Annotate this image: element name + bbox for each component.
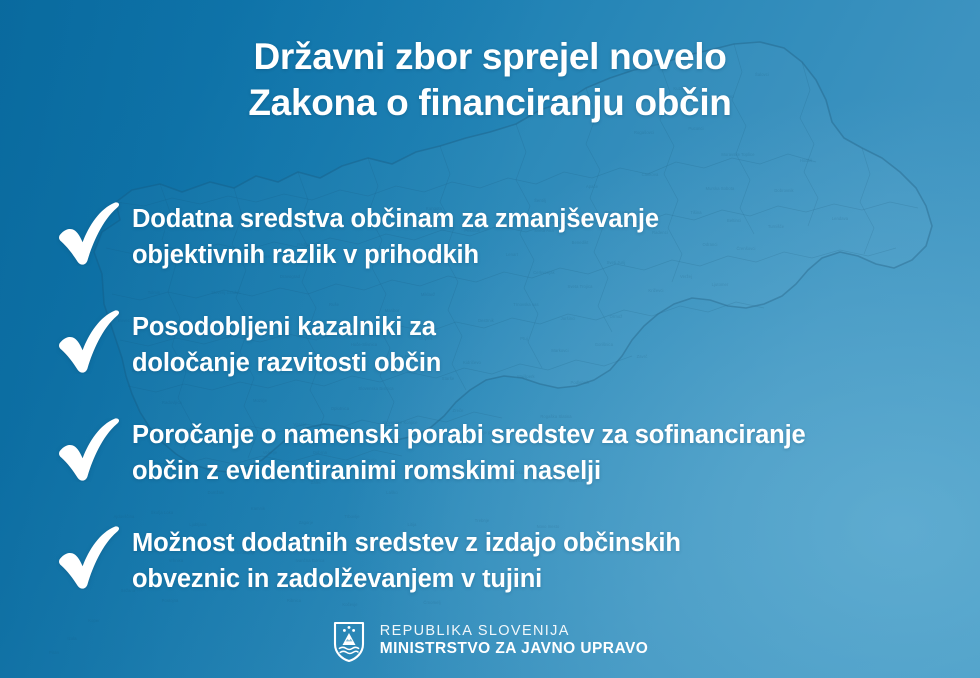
page-title-line-2: Zakona o financiranju občin bbox=[0, 80, 980, 126]
svg-text:Hodoš: Hodoš bbox=[800, 158, 812, 163]
svg-text:Cankova: Cankova bbox=[642, 172, 659, 177]
list-item-line-1: Možnost dodatnih sredstev z izdajo občin… bbox=[132, 526, 681, 562]
list-item-line-1: Poročanje o namenski porabi sredstev za … bbox=[132, 418, 806, 454]
list-item-text: Posodobljeni kazalniki za določanje razv… bbox=[132, 304, 441, 381]
infographic-canvas: Šalovci Gornji Petrovci Kuzma Puconci Mo… bbox=[0, 0, 980, 678]
list-item-line-1: Dodatna sredstva občinam za zmanjševanje bbox=[132, 202, 659, 238]
list-item: Dodatna sredstva občinam za zmanjševanje… bbox=[54, 196, 954, 278]
list-item: Posodobljeni kazalniki za določanje razv… bbox=[54, 304, 954, 386]
list-item-line-2: obveznic in zadolževanjem v tujini bbox=[132, 562, 681, 598]
footer-ministry: MINISTRSTVO ZA JAVNO UPRAVO bbox=[380, 640, 649, 658]
svg-text:Kočevje: Kočevje bbox=[342, 602, 358, 607]
page-title-line-1: Državni zbor sprejel novelo bbox=[0, 34, 980, 80]
svg-text:Rogašovci: Rogašovci bbox=[634, 130, 654, 135]
footer-logo-block: REPUBLIKA SLOVENIJA MINISTRSTVO ZA JAVNO… bbox=[0, 620, 980, 662]
svg-text:Dobrovnik: Dobrovnik bbox=[774, 188, 794, 193]
key-points-list: Dodatna sredstva občinam za zmanjševanje… bbox=[54, 196, 954, 602]
list-item-text: Dodatna sredstva občinam za zmanjševanje… bbox=[132, 196, 659, 273]
svg-text:Apače: Apače bbox=[586, 184, 599, 189]
footer-organisation: REPUBLIKA SLOVENIJA bbox=[380, 623, 649, 640]
footer-text: REPUBLIKA SLOVENIJA MINISTRSTVO ZA JAVNO… bbox=[380, 623, 649, 658]
slovenia-coat-of-arms-icon bbox=[332, 620, 366, 662]
list-item: Možnost dodatnih sredstev z izdajo občin… bbox=[54, 520, 954, 602]
list-item-line-2: občin z evidentiranimi romskimi naselji bbox=[132, 454, 806, 490]
checkmark-icon bbox=[54, 414, 132, 486]
page-title: Državni zbor sprejel novelo Zakona o fin… bbox=[0, 34, 980, 127]
checkmark-icon bbox=[54, 522, 132, 594]
list-item-line-1: Posodobljeni kazalniki za bbox=[132, 310, 441, 346]
list-item-text: Možnost dodatnih sredstev z izdajo občin… bbox=[132, 520, 681, 597]
svg-text:Moravske Toplice: Moravske Toplice bbox=[721, 152, 755, 157]
svg-text:Puconci: Puconci bbox=[688, 126, 703, 131]
svg-text:Murska Sobota: Murska Sobota bbox=[706, 186, 735, 191]
checkmark-icon bbox=[54, 198, 132, 270]
list-item-text: Poročanje o namenski porabi sredstev za … bbox=[132, 412, 806, 489]
list-item: Poročanje o namenski porabi sredstev za … bbox=[54, 412, 954, 494]
list-item-line-2: objektivnih razlik v prihodkih bbox=[132, 238, 659, 274]
list-item-line-2: določanje razvitosti občin bbox=[132, 346, 441, 382]
checkmark-icon bbox=[54, 306, 132, 378]
